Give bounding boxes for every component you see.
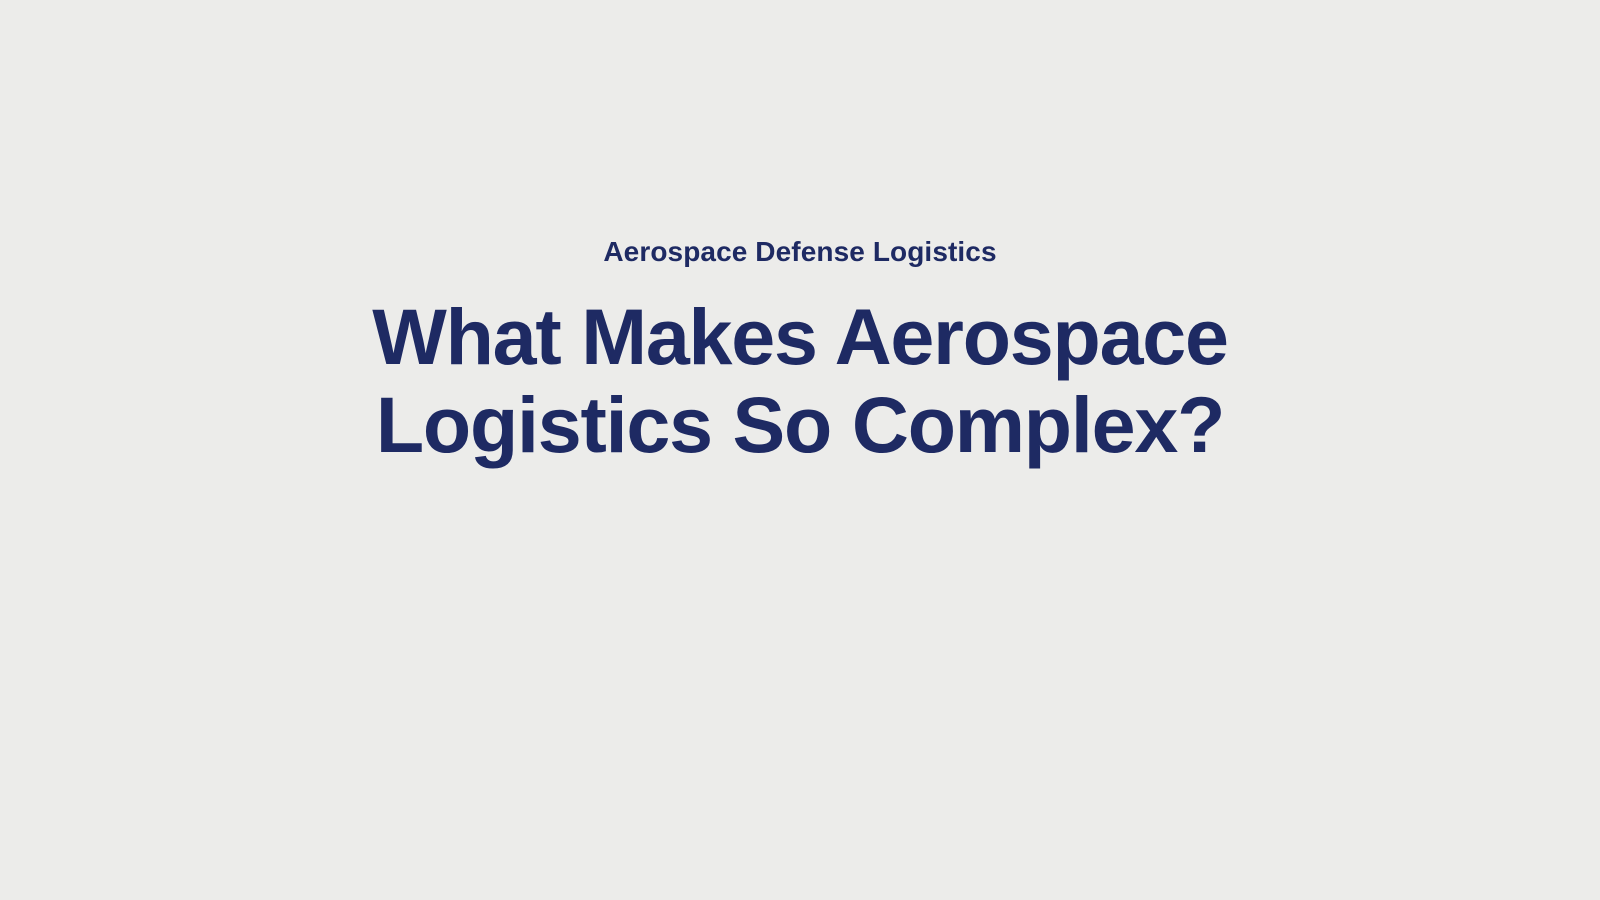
hero-text-block: Aerospace Defense Logistics What Makes A…	[0, 232, 1600, 469]
slide-canvas: Aerospace Defense Logistics What Makes A…	[0, 0, 1600, 900]
page-title: What Makes Aerospace Logistics So Comple…	[372, 293, 1228, 469]
eyebrow-label: Aerospace Defense Logistics	[603, 232, 996, 272]
page-title-line-1: What Makes Aerospace	[372, 293, 1228, 381]
page-title-line-2: Logistics So Complex?	[372, 381, 1228, 469]
